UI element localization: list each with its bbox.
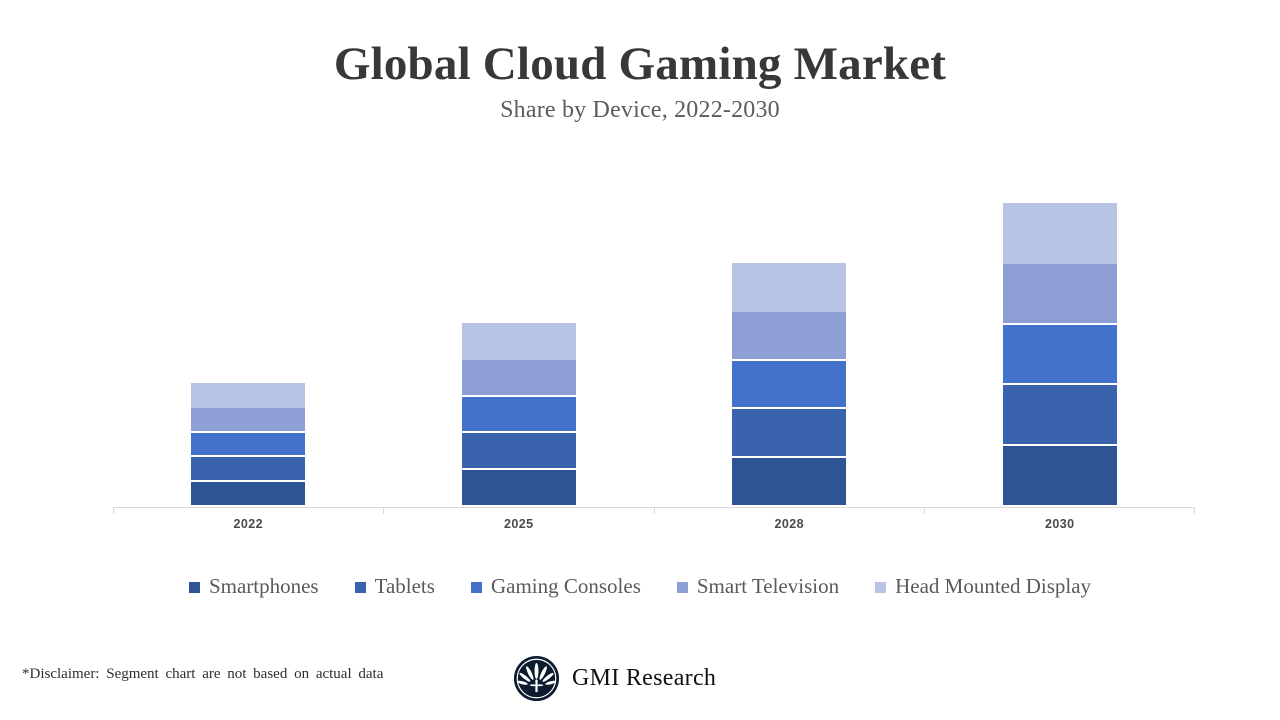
chart-legend: SmartphonesTabletsGaming ConsolesSmart T… <box>0 574 1280 599</box>
x-axis-label-2028: 2028 <box>654 517 925 531</box>
bar-stack[interactable] <box>1003 203 1117 507</box>
x-axis-tick <box>654 508 655 514</box>
x-axis-labels: 2022202520282030 <box>113 517 1195 531</box>
x-axis-label-2025: 2025 <box>384 517 655 531</box>
bar-segment[interactable] <box>191 383 305 408</box>
bar-segment[interactable] <box>191 433 305 458</box>
bar-segment[interactable] <box>191 482 305 507</box>
x-axis-tick <box>1194 508 1195 514</box>
legend-swatch-icon <box>875 582 886 593</box>
bar-segment[interactable] <box>462 397 576 434</box>
legend-swatch-icon <box>471 582 482 593</box>
legend-item-label: Gaming Consoles <box>491 574 641 599</box>
page-subtitle: Share by Device, 2022-2030 <box>0 89 1280 124</box>
x-axis-label-2030: 2030 <box>925 517 1196 531</box>
chart-header: Global Cloud Gaming Market Share by Devi… <box>0 0 1280 124</box>
bar-segment[interactable] <box>732 361 846 410</box>
bar-group-2025[interactable] <box>384 150 655 507</box>
bar-group-2022[interactable] <box>113 150 384 507</box>
disclaimer-text: *Disclaimer: Segment chart are not based… <box>22 666 383 683</box>
brand-name: GMI Research <box>572 665 716 692</box>
bar-segment[interactable] <box>732 409 846 458</box>
bar-stack[interactable] <box>462 323 576 507</box>
x-axis-tick <box>383 508 384 514</box>
legend-item-label: Smartphones <box>209 574 319 599</box>
legend-item-label: Smart Television <box>697 574 839 599</box>
bar-segment[interactable] <box>732 263 846 312</box>
x-axis-label-2022: 2022 <box>113 517 384 531</box>
legend-swatch-icon <box>355 582 366 593</box>
legend-item-label: Tablets <box>375 574 435 599</box>
bar-segment[interactable] <box>462 433 576 470</box>
bar-segment[interactable] <box>1003 446 1117 507</box>
bar-segment[interactable] <box>1003 264 1117 325</box>
brand-watermark: GMI Research <box>513 655 716 702</box>
bar-series-container <box>113 150 1195 507</box>
bar-segment[interactable] <box>1003 325 1117 386</box>
legend-item-smartphones[interactable]: Smartphones <box>189 574 319 599</box>
bar-segment[interactable] <box>732 312 846 361</box>
bar-segment[interactable] <box>1003 203 1117 264</box>
legend-item-smart-television[interactable]: Smart Television <box>677 574 839 599</box>
bar-segment[interactable] <box>191 457 305 482</box>
page-title: Global Cloud Gaming Market <box>0 0 1280 89</box>
legend-swatch-icon <box>677 582 688 593</box>
bar-group-2030[interactable] <box>925 150 1196 507</box>
bar-segment[interactable] <box>462 360 576 397</box>
bar-segment[interactable] <box>462 470 576 507</box>
legend-item-label: Head Mounted Display <box>895 574 1091 599</box>
legend-swatch-icon <box>189 582 200 593</box>
bar-segment[interactable] <box>191 408 305 433</box>
bar-segment[interactable] <box>462 323 576 360</box>
bar-stack[interactable] <box>191 383 305 507</box>
legend-item-tablets[interactable]: Tablets <box>355 574 435 599</box>
bar-segment[interactable] <box>1003 385 1117 446</box>
bar-group-2028[interactable] <box>654 150 925 507</box>
x-axis-tick <box>924 508 925 514</box>
bar-stack[interactable] <box>732 263 846 507</box>
gmi-fan-logo-icon <box>513 655 560 702</box>
chart-plot-area <box>113 150 1195 508</box>
legend-item-head-mounted-display[interactable]: Head Mounted Display <box>875 574 1091 599</box>
bar-segment[interactable] <box>732 458 846 507</box>
x-axis-tick <box>113 508 114 514</box>
legend-item-gaming-consoles[interactable]: Gaming Consoles <box>471 574 641 599</box>
